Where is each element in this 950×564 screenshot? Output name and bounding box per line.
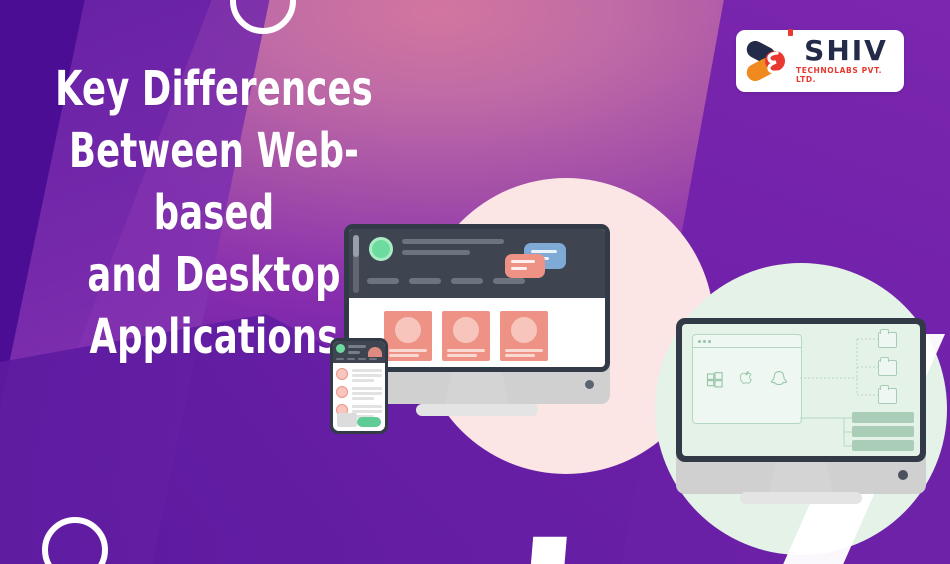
brand-logo[interactable]: SHIV TECHNOLABS PVT. LTD. bbox=[736, 30, 904, 92]
list-item[interactable] bbox=[336, 385, 382, 400]
phone-tab[interactable] bbox=[369, 358, 377, 360]
banner-root: Key Differences Between Web-based and De… bbox=[0, 0, 950, 564]
header-subtitle-line bbox=[402, 250, 470, 255]
monitor-logo-dot-icon bbox=[898, 470, 908, 480]
phone-tab[interactable] bbox=[347, 358, 355, 360]
phone-header-subline bbox=[348, 351, 360, 354]
phone-thumbnail bbox=[337, 413, 357, 427]
page-title: Key Differences Between Web-based and De… bbox=[48, 58, 379, 368]
monitor-logo-dot-icon bbox=[585, 380, 594, 389]
salmon-chat-bubble-icon bbox=[505, 254, 545, 278]
nav-item-3[interactable] bbox=[451, 278, 483, 284]
logo-name: SHIV bbox=[804, 38, 888, 64]
phone-avatar bbox=[336, 344, 345, 353]
phone-chart-icon bbox=[368, 347, 382, 357]
desktop-app-monitor-illustration bbox=[676, 318, 926, 518]
monitor-stand-base bbox=[740, 492, 862, 504]
nav-item-2[interactable] bbox=[409, 278, 441, 284]
scrollbar-thumb[interactable] bbox=[353, 235, 359, 257]
monitor-stand-base bbox=[416, 404, 538, 416]
logo-wordmark: SHIV TECHNOLABS PVT. LTD. bbox=[796, 38, 896, 84]
list-bar[interactable] bbox=[852, 412, 914, 423]
list-bar[interactable] bbox=[852, 440, 914, 451]
mobile-phone-illustration bbox=[330, 338, 388, 434]
nav-item-1[interactable] bbox=[367, 278, 399, 284]
phone-tab[interactable] bbox=[358, 358, 366, 360]
monitor-bezel bbox=[676, 318, 926, 462]
phone-cta-button[interactable] bbox=[357, 417, 381, 427]
monitor-stand-neck bbox=[768, 462, 834, 496]
phone-screen bbox=[333, 341, 385, 431]
content-card[interactable] bbox=[442, 311, 490, 361]
folder-icon[interactable] bbox=[878, 332, 897, 348]
list-item[interactable] bbox=[336, 367, 382, 382]
shiv-logo-mark-icon bbox=[744, 41, 794, 81]
logo-tagline: TECHNOLABS PVT. LTD. bbox=[796, 66, 896, 84]
monitor-stand-neck bbox=[444, 372, 510, 408]
nav-item-4[interactable] bbox=[493, 278, 525, 284]
header-title-line bbox=[402, 239, 504, 244]
desktop-app-screen bbox=[682, 324, 920, 456]
content-card[interactable] bbox=[500, 311, 548, 361]
phone-tab[interactable] bbox=[336, 358, 344, 360]
content-card[interactable] bbox=[384, 311, 432, 361]
avatar bbox=[369, 237, 393, 261]
logo-accent-dot-icon bbox=[788, 29, 793, 36]
folder-icon[interactable] bbox=[878, 360, 897, 376]
list-bar[interactable] bbox=[852, 426, 914, 437]
folder-icon[interactable] bbox=[878, 388, 897, 404]
phone-header-line bbox=[348, 345, 366, 348]
